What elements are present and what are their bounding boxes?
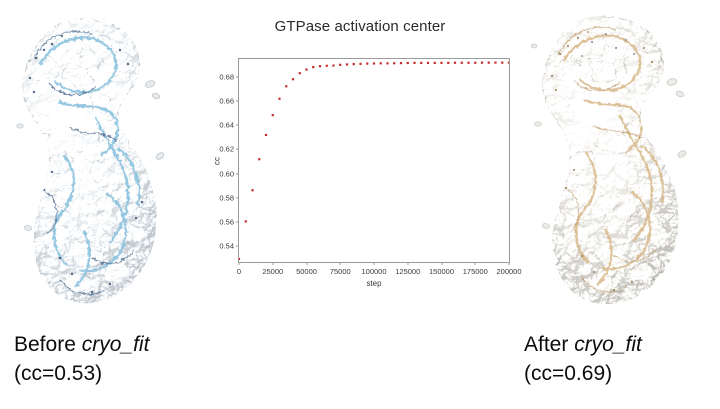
x-tick-label: 175000: [463, 267, 488, 276]
data-point: [488, 62, 490, 64]
data-point: [285, 85, 287, 87]
x-tick-label: 75000: [330, 267, 351, 276]
y-tick-label: 0.66: [219, 96, 234, 105]
y-tick-mark: [236, 246, 239, 247]
data-point: [447, 62, 449, 64]
data-point: [239, 258, 240, 260]
caption-before-prefix: Before: [14, 333, 82, 356]
data-point: [454, 62, 456, 64]
data-point: [245, 220, 247, 222]
data-point: [407, 62, 409, 64]
data-point: [474, 62, 476, 64]
data-point: [467, 62, 469, 64]
molecule-after-cryofit: [520, 6, 720, 316]
y-tick-mark: [236, 100, 239, 101]
caption-after-emphasis: cryo_fit: [574, 333, 642, 356]
y-tick-label: 0.58: [219, 193, 234, 202]
x-tick-label: 50000: [296, 267, 317, 276]
data-point: [299, 72, 301, 74]
data-point: [251, 189, 253, 191]
caption-before-cc: (cc=0.53): [14, 359, 149, 388]
data-point: [508, 62, 509, 64]
data-point: [501, 62, 503, 64]
data-point: [339, 64, 341, 66]
x-tick-mark: [239, 262, 240, 265]
y-tick-label: 0.62: [219, 145, 234, 154]
x-axis-label: step: [239, 279, 509, 288]
y-axis-label: cc: [213, 157, 222, 165]
data-point: [386, 62, 388, 64]
caption-before: Before cryo_fit (cc=0.53): [14, 330, 149, 388]
x-tick-mark: [306, 262, 307, 265]
data-point: [359, 63, 361, 65]
data-point: [427, 62, 429, 64]
scatter-series-cc: [239, 59, 509, 262]
x-tick-mark: [475, 262, 476, 265]
data-point: [346, 63, 348, 65]
data-point: [332, 64, 334, 66]
data-point: [258, 158, 260, 160]
y-tick-label: 0.64: [219, 121, 234, 130]
data-point: [434, 62, 436, 64]
data-point: [400, 62, 402, 64]
data-point: [420, 62, 422, 64]
x-tick-label: 150000: [429, 267, 454, 276]
data-point: [440, 62, 442, 64]
data-point: [292, 78, 294, 80]
x-tick-mark: [374, 262, 375, 265]
caption-after-cc: (cc=0.69): [524, 359, 642, 388]
y-tick-label: 0.60: [219, 169, 234, 178]
data-point: [481, 62, 483, 64]
y-tick-mark: [236, 76, 239, 77]
data-point: [326, 65, 328, 67]
data-point: [413, 62, 415, 64]
caption-after-prefix: After: [524, 333, 574, 356]
y-tick-mark: [236, 149, 239, 150]
data-point: [461, 62, 463, 64]
y-tick-mark: [236, 125, 239, 126]
data-point: [319, 65, 321, 67]
caption-before-emphasis: cryo_fit: [82, 333, 150, 356]
caption-after: After cryo_fit (cc=0.69): [524, 330, 642, 388]
data-point: [265, 134, 267, 136]
x-tick-mark: [272, 262, 273, 265]
plot-area: cc step 0.540.560.580.600.620.640.660.68…: [238, 58, 510, 263]
y-tick-mark: [236, 222, 239, 223]
molecule-after-svg: [520, 6, 720, 316]
y-tick-label: 0.56: [219, 218, 234, 227]
y-tick-label: 0.68: [219, 72, 234, 81]
data-point: [393, 62, 395, 64]
molecule-before-svg: [0, 6, 200, 316]
data-point: [353, 63, 355, 65]
x-tick-mark: [509, 262, 510, 265]
data-point: [373, 62, 375, 64]
molecule-before-cryofit: [0, 6, 200, 316]
x-tick-mark: [340, 262, 341, 265]
data-point: [305, 68, 307, 70]
x-tick-label: 25000: [262, 267, 283, 276]
data-point: [272, 114, 274, 116]
data-point: [494, 62, 496, 64]
x-tick-mark: [441, 262, 442, 265]
x-tick-mark: [407, 262, 408, 265]
data-point: [278, 98, 280, 100]
y-tick-mark: [236, 197, 239, 198]
x-tick-label: 125000: [395, 267, 420, 276]
cc-vs-step-chart: GTPase activation center cc step 0.540.5…: [207, 4, 513, 304]
x-tick-label: 100000: [361, 267, 386, 276]
chart-title: GTPase activation center: [207, 18, 513, 35]
y-tick-label: 0.54: [219, 242, 234, 251]
y-tick-mark: [236, 173, 239, 174]
data-point: [366, 63, 368, 65]
data-point: [380, 62, 382, 64]
x-tick-label: 0: [237, 267, 241, 276]
data-point: [312, 66, 314, 68]
x-tick-label: 200000: [496, 267, 521, 276]
